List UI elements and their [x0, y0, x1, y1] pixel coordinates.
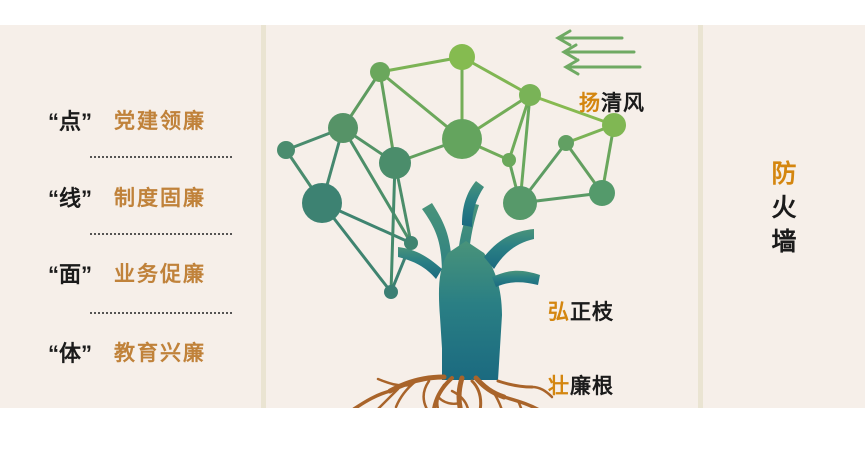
list-item-value: 业务促廉	[96, 258, 206, 288]
integrity-tree-graphic	[266, 25, 698, 408]
label-hong-zheng-zhi: 弘正枝	[548, 296, 614, 326]
list-item-key: “点”	[0, 104, 96, 136]
list-item-key: “面”	[0, 257, 96, 289]
label-yang-qing-feng: 扬清风	[579, 87, 645, 117]
firewall-char-3: 墙	[703, 225, 865, 259]
list-item: “点” 党建领廉	[0, 103, 261, 137]
list-separator	[90, 312, 232, 314]
tree-roots	[354, 377, 552, 408]
label-hong-highlight: 弘	[548, 301, 570, 324]
label-yang-highlight: 扬	[579, 92, 601, 115]
firewall-char-1: 防	[703, 157, 865, 191]
firewall-char-2: 火	[703, 191, 865, 225]
list-item: “线” 制度固廉	[0, 180, 261, 214]
wind-arrows	[558, 31, 640, 74]
label-zhuang-lian-gen: 壮廉根	[548, 370, 614, 400]
list-item: “体” 教育兴廉	[0, 335, 261, 369]
firewall-word: 防 火 墙	[703, 157, 865, 259]
label-yang-rest: 清风	[601, 92, 645, 115]
list-item-key: “线”	[0, 181, 96, 213]
label-zhuang-highlight: 壮	[548, 375, 570, 398]
label-hong-rest: 正枝	[570, 301, 614, 324]
list-item: “面” 业务促廉	[0, 256, 261, 290]
middle-panel: 扬清风 弘正枝 壮廉根	[266, 25, 698, 408]
list-separator	[90, 233, 232, 235]
right-panel: 防 火 墙	[703, 25, 865, 408]
list-item-value: 制度固廉	[96, 182, 206, 212]
list-item-key: “体”	[0, 336, 96, 368]
list-separator	[90, 156, 232, 158]
left-panel: “点” 党建领廉 “线” 制度固廉 “面” 业务促廉 “体” 教育兴廉	[0, 25, 261, 408]
screenshot-root: “点” 党建领廉 “线” 制度固廉 “面” 业务促廉 “体” 教育兴廉	[0, 0, 865, 450]
label-zhuang-rest: 廉根	[570, 375, 614, 398]
list-item-value: 教育兴廉	[96, 337, 206, 367]
list-item-value: 党建领廉	[96, 105, 206, 135]
